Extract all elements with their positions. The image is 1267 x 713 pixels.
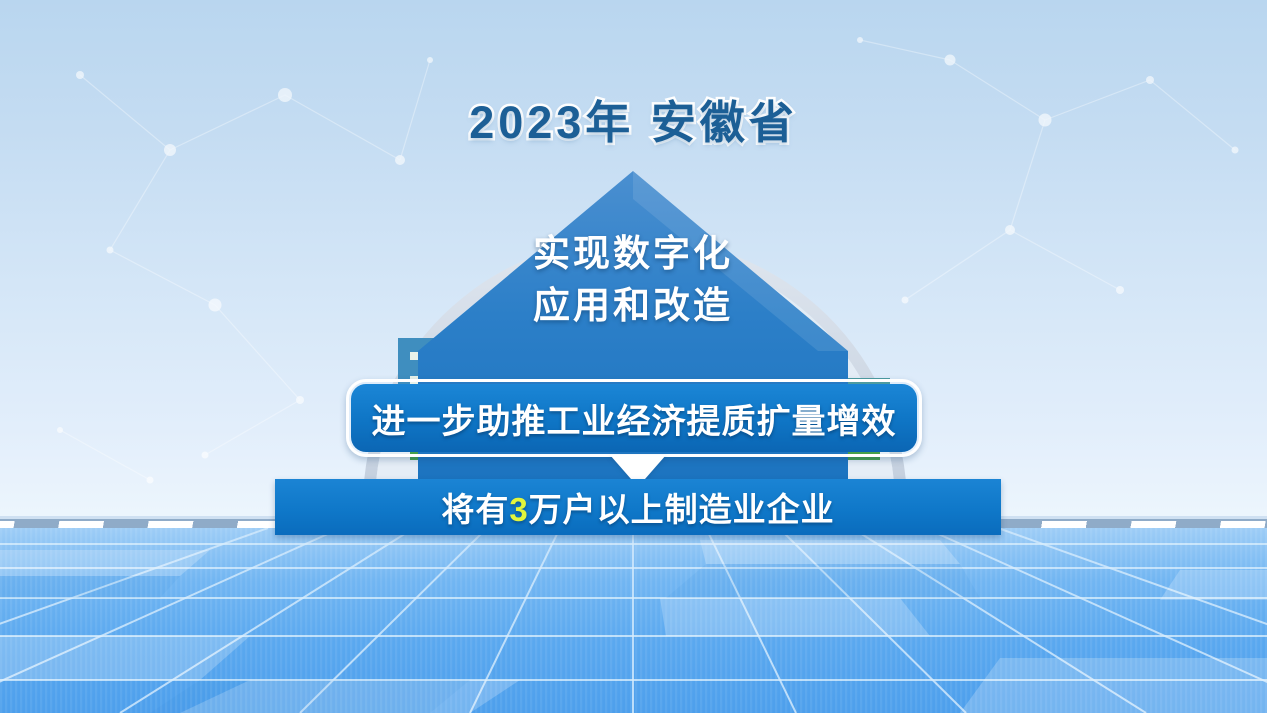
arrow-label: 实现数字化 应用和改造 (418, 228, 848, 332)
infographic-canvas: 2023年 安徽省 (0, 0, 1267, 713)
mid-banner-text: 进一步助推工业经济提质扩量增效 (372, 394, 897, 443)
arrow-label-line2: 应用和改造 (418, 280, 848, 332)
perspective-grid-floor (0, 528, 1267, 713)
mid-banner: 进一步助推工业经济提质扩量增效 (346, 379, 922, 457)
bottom-banner-text: 将有3万户以上制造业企业 (441, 483, 834, 531)
arrow-label-line1: 实现数字化 (418, 228, 848, 280)
bottom-banner-suffix: 万户以上制造业企业 (529, 491, 835, 528)
page-title: 2023年 安徽省 (0, 86, 1267, 151)
bottom-banner-highlight: 3 (509, 491, 528, 528)
bottom-banner-prefix: 将有 (441, 491, 509, 528)
mid-banner-body: 进一步助推工业经济提质扩量增效 (351, 384, 917, 452)
bottom-banner: 将有3万户以上制造业企业 (275, 479, 1001, 535)
